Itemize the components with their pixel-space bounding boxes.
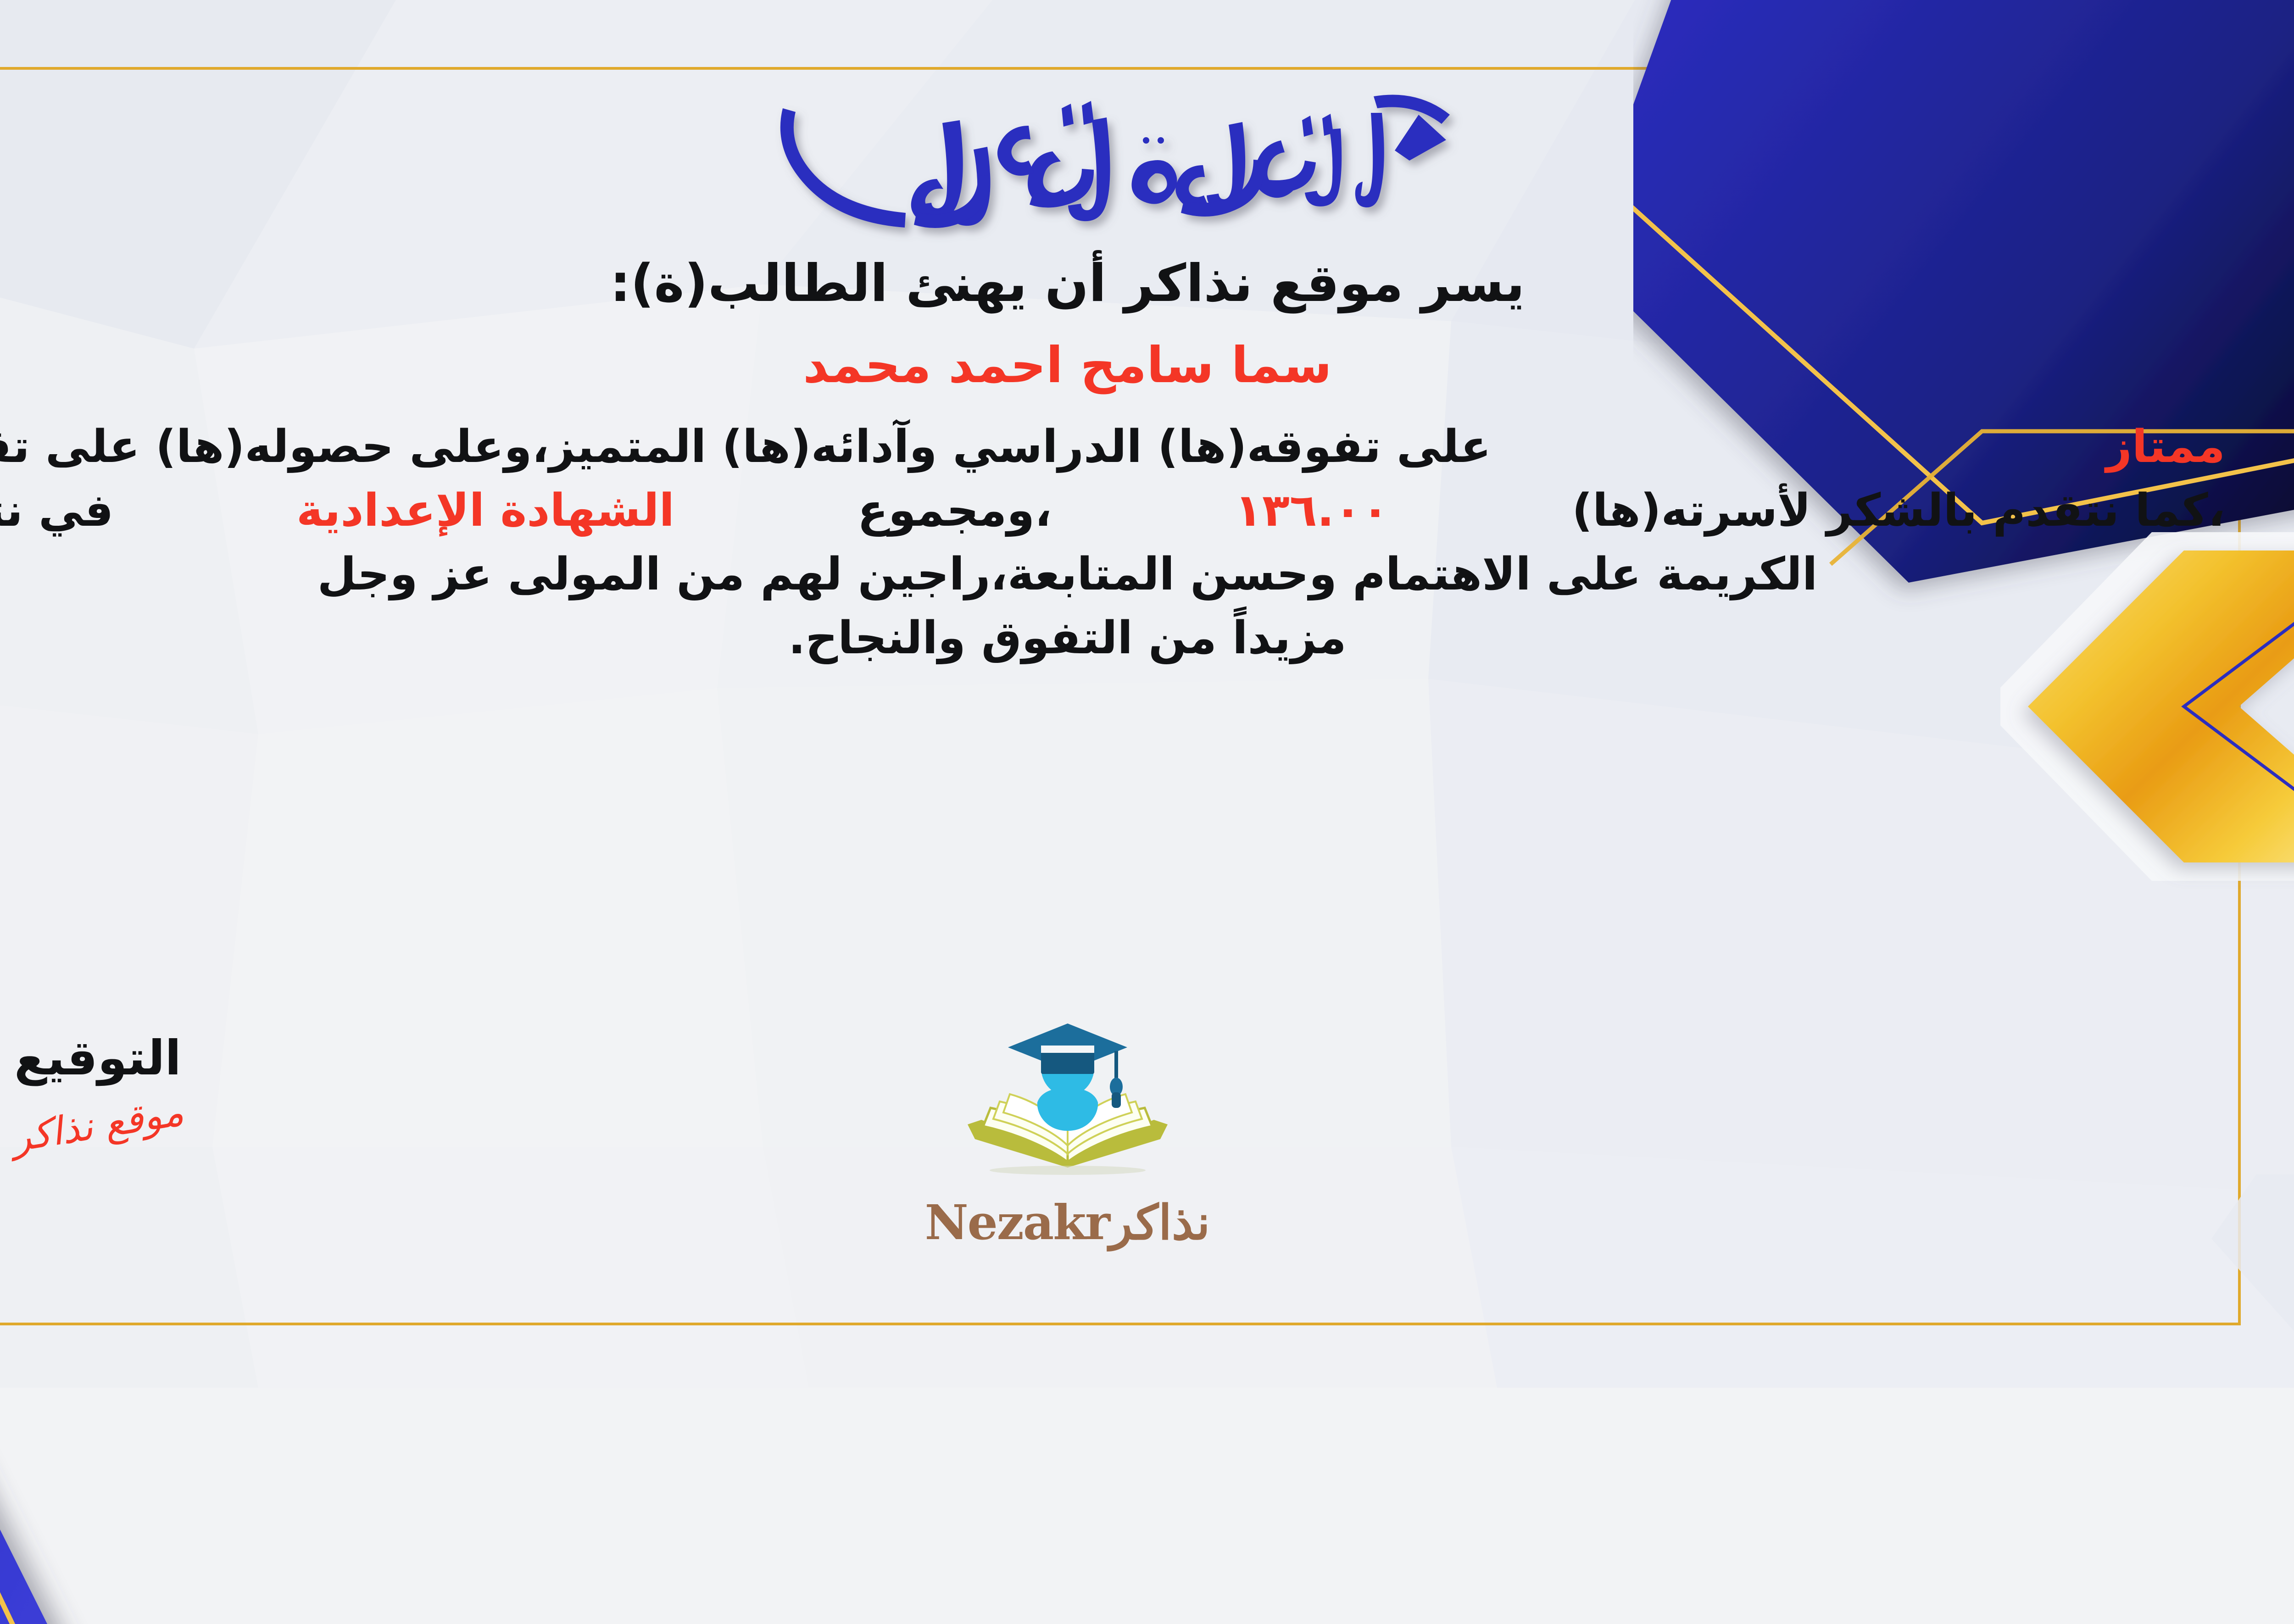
body-line-2-start: في نتيجة (0, 479, 113, 543)
signature-label: التوقيع (0, 1030, 258, 1086)
exam-name-value: الشهادة الإعدادية (296, 479, 674, 543)
certificate-footer: التوقيع موقع نذاكر (0, 1012, 2225, 1314)
logo-wordmark-latin: Nezakr (925, 1194, 1110, 1251)
brand-logo: نذاكرNezakr (889, 1016, 1247, 1251)
body-line-1: ممتاز على تفوقه(ها) الدراسي وآدائه(ها) ا… (0, 415, 2225, 479)
body-line-2: ،كما نتقدم بالشكر لأسرته(ها) ١٣٦.٠٠ ،ومج… (0, 479, 2225, 543)
greeting-line: يسر موقع نذاكر أن يهنئ الطالب(ة): (610, 254, 1525, 313)
body-line-4: مزيداً من التفوق والنجاح. (0, 606, 2225, 670)
logo-mark-icon (939, 1016, 1196, 1200)
title-calligraphy-shahadat-taqdeer (666, 96, 1469, 234)
signature-script: موقع نذاكر (9, 1089, 187, 1161)
total-score-value: ١٣٦.٠٠ (1235, 479, 1389, 543)
student-name: سما سامح احمد محمد (803, 337, 1332, 394)
logo-wordmark-arabic: نذاكر (1109, 1194, 1210, 1251)
certificate-title (0, 96, 2225, 234)
body-line-1-text: على تفوقه(ها) الدراسي وآدائه(ها) المتميز… (0, 415, 1491, 479)
logo-wordmark: نذاكرNezakr (889, 1194, 1247, 1251)
body-paragraph: ممتاز على تفوقه(ها) الدراسي وآدائه(ها) ا… (0, 415, 2225, 671)
signature-block: التوقيع موقع نذاكر (0, 1030, 258, 1147)
body-line-2-mid: ،ومجموع (857, 479, 1052, 543)
grade-value: ممتاز (2106, 415, 2225, 479)
body-line-2-end: ،كما نتقدم بالشكر لأسرته(ها) (1572, 479, 2225, 543)
body-line-3: الكريمة على الاهتمام وحسن المتابعة،راجين… (0, 543, 2225, 606)
certificate-content: يسر موقع نذاكر أن يهنئ الطالب(ة): سما سا… (0, 78, 2225, 1314)
